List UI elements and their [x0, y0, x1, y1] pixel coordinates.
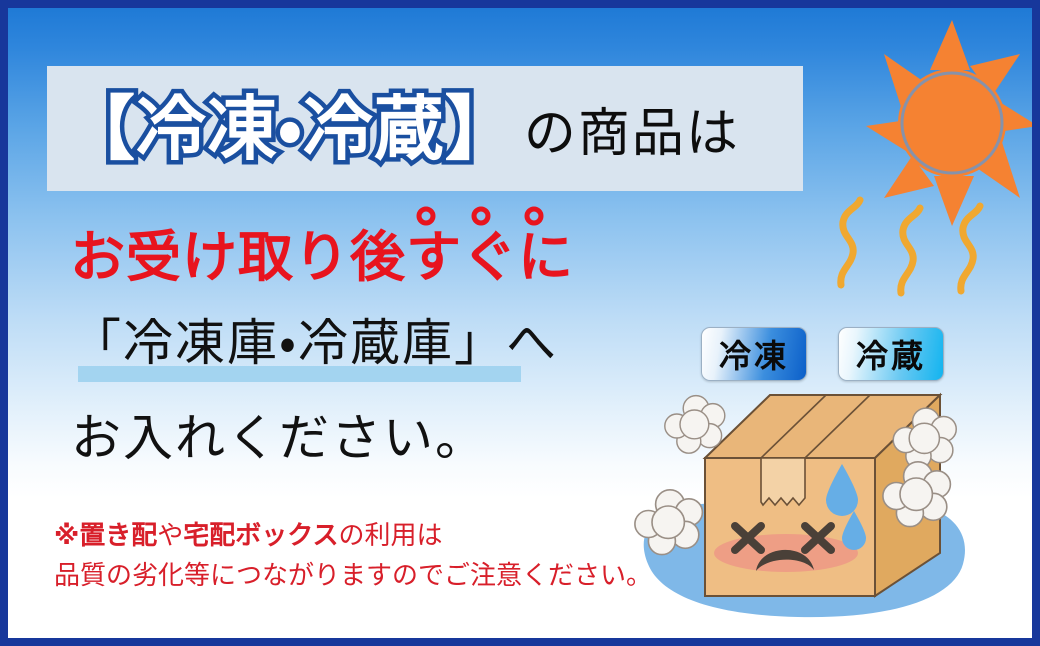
footnote-line-2: 品質の劣化等につながりますのでご注意ください。 — [54, 556, 652, 596]
badge-frozen: 冷凍 — [701, 327, 807, 381]
body-line-3: お入れください。 — [71, 413, 487, 463]
footnote-line-1: ※置き配や宅配ボックスの利用は — [54, 516, 652, 556]
footnote-bold-okihai: ※置き配 — [54, 520, 157, 550]
footnote-reg-ya: や — [157, 520, 183, 550]
footnote-reg-riyou: の利用は — [339, 520, 443, 550]
emphasis-dot-icon — [419, 209, 541, 223]
poster-frame: 【冷凍・冷蔵】 の商品は お受け取り後すぐに 「冷凍庫・冷蔵庫」へ お入れくださ… — [0, 0, 1040, 646]
footnote: ※置き配や宅配ボックスの利用は 品質の劣化等につながりますのでご注意ください。 — [54, 516, 652, 595]
body-line-2: 「冷凍庫・冷蔵庫」へ — [71, 318, 558, 368]
badge-chilled: 冷蔵 — [838, 327, 944, 381]
footnote-bold-takuhai: 宅配ボックス — [183, 520, 338, 550]
